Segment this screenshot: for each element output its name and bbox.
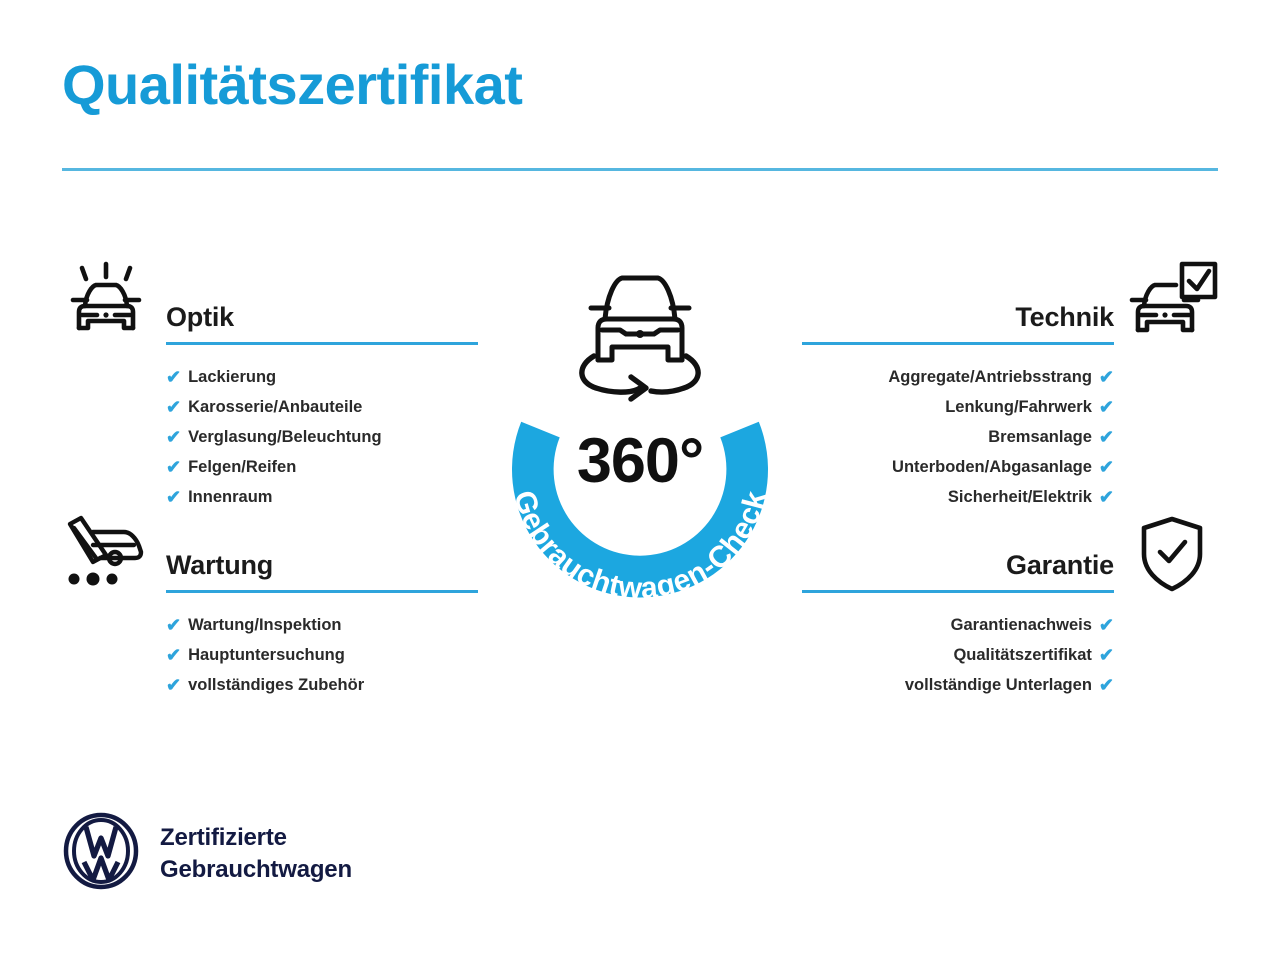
footer-brand-text: Zertifizierte Gebrauchtwagen bbox=[160, 822, 352, 884]
list-item: ✔ Lackierung bbox=[166, 362, 478, 392]
vw-logo-icon bbox=[62, 812, 140, 895]
list-item: ✔ Hauptuntersuchung bbox=[166, 640, 478, 670]
list-item: Unterboden/Abgasanlage ✔ bbox=[802, 452, 1114, 482]
footer-brand: Zertifizierte Gebrauchtwagen bbox=[62, 812, 352, 895]
car-checkbox-icon bbox=[1128, 254, 1220, 346]
footer-line-1: Zertifizierte bbox=[160, 822, 352, 853]
list-item: vollständige Unterlagen ✔ bbox=[802, 670, 1114, 700]
page-title: Qualitätszertifikat bbox=[62, 54, 522, 116]
badge-360-check: Gebrauchtwagen-Check 360° bbox=[468, 248, 812, 644]
header-divider bbox=[62, 168, 1218, 171]
badge-value: 360° bbox=[468, 430, 812, 493]
list-item-label: Aggregate/Antriebsstrang bbox=[888, 362, 1092, 392]
section-technik-list: Aggregate/Antriebsstrang ✔ Lenkung/Fahrw… bbox=[802, 362, 1114, 512]
list-item: Qualitätszertifikat ✔ bbox=[802, 640, 1114, 670]
check-icon: ✔ bbox=[1099, 676, 1114, 694]
check-icon: ✔ bbox=[166, 428, 181, 446]
certificate-page: Qualitätszertifikat bbox=[0, 0, 1280, 960]
check-icon: ✔ bbox=[1099, 398, 1114, 416]
list-item-label: vollständiges Zubehör bbox=[188, 670, 364, 700]
check-icon: ✔ bbox=[166, 646, 181, 664]
section-optik-title: Optik bbox=[166, 304, 478, 331]
section-wartung-title: Wartung bbox=[166, 552, 478, 579]
check-icon: ✔ bbox=[166, 616, 181, 634]
list-item-label: Lackierung bbox=[188, 362, 276, 392]
list-item-label: vollständige Unterlagen bbox=[905, 670, 1092, 700]
car-shine-icon bbox=[60, 256, 152, 348]
check-icon: ✔ bbox=[1099, 458, 1114, 476]
list-item: ✔ Wartung/Inspektion bbox=[166, 610, 478, 640]
section-optik-list: ✔ Lackierung ✔ Karosserie/Anbauteile ✔ V… bbox=[166, 362, 478, 512]
list-item: ✔ Innenraum bbox=[166, 482, 478, 512]
list-item-label: Unterboden/Abgasanlage bbox=[892, 452, 1092, 482]
list-item-label: Karosserie/Anbauteile bbox=[188, 392, 362, 422]
list-item: Garantienachweis ✔ bbox=[802, 610, 1114, 640]
list-item: Bremsanlage ✔ bbox=[802, 422, 1114, 452]
list-item-label: Garantienachweis bbox=[951, 610, 1092, 640]
list-item: Lenkung/Fahrwerk ✔ bbox=[802, 392, 1114, 422]
section-wartung-underline bbox=[166, 590, 478, 593]
section-technik-underline bbox=[802, 342, 1114, 345]
car-rotate-360-icon bbox=[582, 278, 698, 399]
section-garantie-list: Garantienachweis ✔ Qualitätszertifikat ✔… bbox=[802, 610, 1114, 700]
check-icon: ✔ bbox=[166, 488, 181, 506]
section-technik-title: Technik bbox=[802, 304, 1114, 331]
section-optik-header: Optik bbox=[166, 304, 478, 345]
list-item-label: Bremsanlage bbox=[988, 422, 1092, 452]
list-item: ✔ Karosserie/Anbauteile bbox=[166, 392, 478, 422]
section-optik-underline bbox=[166, 342, 478, 345]
section-garantie-underline bbox=[802, 590, 1114, 593]
list-item-label: Qualitätszertifikat bbox=[953, 640, 1091, 670]
section-wartung-list: ✔ Wartung/Inspektion ✔ Hauptuntersuchung… bbox=[166, 610, 478, 700]
list-item: ✔ vollständiges Zubehör bbox=[166, 670, 478, 700]
check-icon: ✔ bbox=[166, 368, 181, 386]
check-icon: ✔ bbox=[166, 676, 181, 694]
section-garantie-header: Garantie bbox=[802, 552, 1114, 593]
car-service-pen-icon bbox=[58, 506, 150, 598]
list-item-label: Verglasung/Beleuchtung bbox=[188, 422, 381, 452]
list-item-label: Lenkung/Fahrwerk bbox=[945, 392, 1092, 422]
check-icon: ✔ bbox=[1099, 428, 1114, 446]
list-item: ✔ Felgen/Reifen bbox=[166, 452, 478, 482]
list-item-label: Innenraum bbox=[188, 482, 272, 512]
check-icon: ✔ bbox=[1099, 616, 1114, 634]
list-item-label: Sicherheit/Elektrik bbox=[948, 482, 1092, 512]
list-item: Sicherheit/Elektrik ✔ bbox=[802, 482, 1114, 512]
shield-check-icon bbox=[1126, 508, 1218, 600]
list-item: Aggregate/Antriebsstrang ✔ bbox=[802, 362, 1114, 392]
check-icon: ✔ bbox=[1099, 646, 1114, 664]
check-icon: ✔ bbox=[166, 458, 181, 476]
list-item-label: Felgen/Reifen bbox=[188, 452, 296, 482]
footer-line-2: Gebrauchtwagen bbox=[160, 854, 352, 885]
list-item-label: Hauptuntersuchung bbox=[188, 640, 345, 670]
section-garantie-title: Garantie bbox=[802, 552, 1114, 579]
section-wartung-header: Wartung bbox=[166, 552, 478, 593]
check-icon: ✔ bbox=[1099, 368, 1114, 386]
check-icon: ✔ bbox=[166, 398, 181, 416]
list-item-label: Wartung/Inspektion bbox=[188, 610, 341, 640]
list-item: ✔ Verglasung/Beleuchtung bbox=[166, 422, 478, 452]
section-technik-header: Technik bbox=[802, 304, 1114, 345]
check-icon: ✔ bbox=[1099, 488, 1114, 506]
